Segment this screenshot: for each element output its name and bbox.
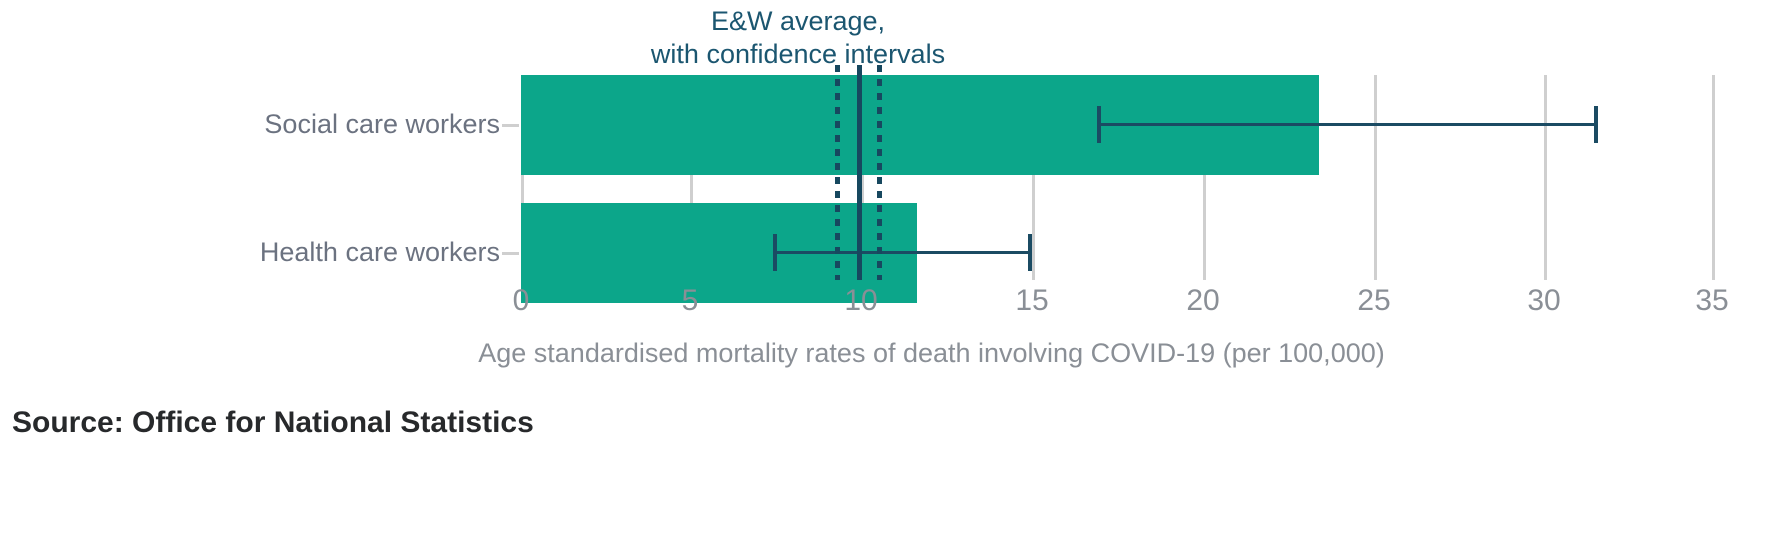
y-label-social-care-workers: Social care workers bbox=[248, 109, 500, 140]
annotation-line-2: with confidence intervals bbox=[498, 38, 1098, 71]
error-bar-cap-low-health-care-workers bbox=[773, 234, 777, 271]
x-tick-label-30: 30 bbox=[1527, 284, 1560, 318]
plot-area bbox=[521, 75, 1715, 280]
y-axis-labels: Social care workers Health care workers bbox=[0, 75, 500, 280]
x-axis-tick-labels: 0 5 10 15 20 25 30 35 bbox=[0, 284, 1767, 324]
y-label-health-care-workers: Health care workers bbox=[248, 237, 500, 268]
x-tick-label-35: 35 bbox=[1695, 284, 1728, 318]
x-tick-label-10: 10 bbox=[844, 284, 877, 318]
gridline-30 bbox=[1544, 75, 1547, 280]
y-tick-social-care-workers bbox=[502, 124, 519, 127]
reference-ci-low-line bbox=[835, 65, 840, 280]
chart-container: E&W average, with confidence intervals S… bbox=[0, 0, 1767, 542]
reference-line-annotation: E&W average, with confidence intervals bbox=[498, 5, 1098, 71]
x-axis-title-text: Age standardised mortality rates of deat… bbox=[478, 338, 1384, 369]
x-tick-label-15: 15 bbox=[1015, 284, 1048, 318]
x-tick-label-0: 0 bbox=[513, 284, 530, 318]
x-tick-label-5: 5 bbox=[682, 284, 699, 318]
y-tick-health-care-workers bbox=[502, 252, 519, 255]
annotation-line-1: E&W average, bbox=[498, 5, 1098, 38]
source-caption: Source: Office for National Statistics bbox=[12, 406, 534, 440]
error-bar-cap-high-health-care-workers bbox=[1028, 234, 1032, 271]
x-tick-label-25: 25 bbox=[1357, 284, 1390, 318]
x-axis-title: Age standardised mortality rates of deat… bbox=[0, 338, 1767, 369]
x-tick-label-20: 20 bbox=[1186, 284, 1219, 318]
reference-ci-high-line bbox=[877, 65, 882, 280]
error-bar-line-social-care-workers bbox=[1097, 123, 1595, 126]
gridline-35 bbox=[1712, 75, 1715, 280]
error-bar-cap-high-social-care-workers bbox=[1594, 106, 1598, 143]
reference-average-line bbox=[857, 65, 862, 280]
error-bar-cap-low-social-care-workers bbox=[1097, 106, 1101, 143]
error-bar-line-health-care-workers bbox=[773, 251, 1031, 254]
gridline-25 bbox=[1374, 75, 1377, 280]
